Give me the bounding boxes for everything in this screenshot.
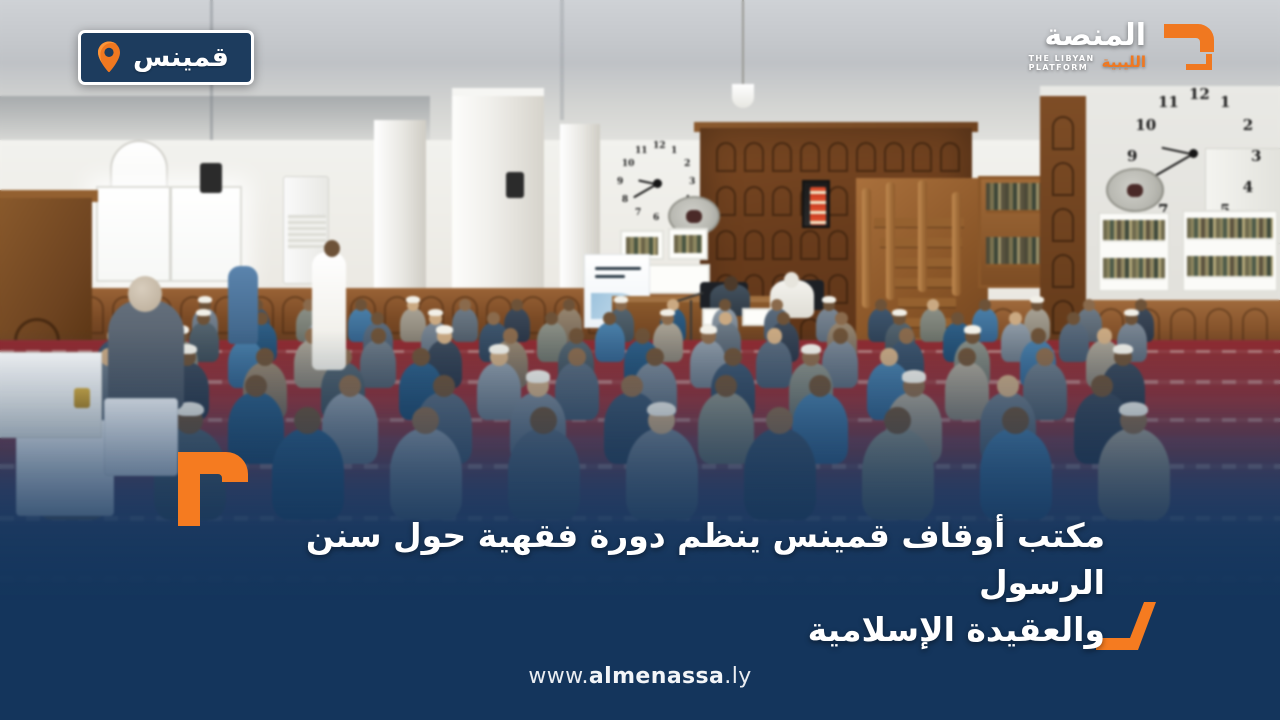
clock-number: 4 (1243, 178, 1253, 196)
arch-motif (744, 186, 764, 216)
clock-minute-hand (1153, 153, 1194, 178)
prayer-cap (198, 296, 212, 303)
brand-en-line2: PLATFORM (1029, 63, 1089, 72)
headline: مكتب أوقاف قمينس ينظم دورة فقهية حول سنن… (275, 512, 1105, 653)
head (128, 276, 162, 312)
url-tld: .ly (724, 664, 751, 689)
prayer-cap (1030, 296, 1044, 303)
head (355, 299, 367, 311)
clock-number: 10 (1135, 116, 1156, 134)
arch-motif (772, 186, 792, 216)
prayer-cap (822, 296, 836, 303)
website-url[interactable]: www.almenassa.ly (0, 664, 1280, 689)
head (784, 272, 799, 288)
clock-number: 9 (617, 177, 623, 187)
head (724, 276, 738, 291)
clock-number: 7 (635, 208, 641, 218)
brand-logo[interactable]: المنصة THE LIBYAN PLATFORM الليبية (1029, 16, 1222, 82)
arch-motif (800, 142, 820, 172)
headline-line-1: مكتب أوقاف قمينس ينظم دورة فقهية حول سنن… (275, 512, 1105, 606)
arch-motif (1052, 162, 1074, 196)
arch-motif (912, 142, 932, 172)
arch-motif (1052, 254, 1074, 288)
head (927, 299, 939, 311)
pendant-lamp (732, 84, 754, 108)
arch-motif (1052, 208, 1074, 242)
clock-number: 9 (1127, 147, 1137, 165)
arch-motif (716, 142, 736, 172)
url-prefix: www. (528, 664, 589, 689)
brand-name-english: THE LIBYAN PLATFORM (1029, 54, 1095, 72)
arch-motif (744, 142, 764, 172)
clock-number: 11 (635, 146, 648, 156)
clock-number: 12 (1189, 85, 1210, 103)
clock-number: 10 (622, 159, 635, 169)
prayer-cap (196, 309, 211, 316)
arch-motif (884, 142, 904, 172)
head (459, 299, 471, 311)
ceiling-seam-secondary (560, 0, 564, 120)
prayer-cap (1124, 309, 1139, 316)
clock-number: 11 (1158, 93, 1179, 111)
minbar-post (918, 180, 927, 292)
arch-motif (856, 142, 876, 172)
arch-motif (800, 230, 820, 260)
clock-number: 3 (1251, 147, 1261, 165)
minbar-post (862, 188, 871, 308)
head (324, 240, 340, 257)
brand-name-arabic: المنصة (1044, 22, 1146, 51)
news-card: 121234567891011 121234567891011 (0, 0, 1280, 720)
arch-motif (828, 230, 848, 260)
prayer-cap (406, 296, 420, 303)
head (719, 299, 731, 311)
clock-number: 2 (684, 159, 690, 169)
speaker (200, 163, 222, 193)
head (979, 299, 991, 311)
clock-number: 6 (653, 213, 659, 223)
clock-number: 3 (689, 177, 695, 187)
pendant-cord (742, 0, 744, 86)
clock-number: 12 (653, 141, 666, 151)
brand-en-line1: THE LIBYAN (1029, 54, 1095, 63)
arch-motif (772, 142, 792, 172)
brand-name-arabic-secondary: الليبية (1102, 55, 1146, 70)
bookshelf (1182, 210, 1278, 292)
clock-minute-hand (633, 183, 657, 198)
arch-motif (1052, 116, 1074, 150)
clock-number: 1 (671, 146, 677, 156)
arch-motif (828, 142, 848, 172)
brand-subline: THE LIBYAN PLATFORM الليبية (1029, 54, 1146, 72)
clock-number: 8 (622, 195, 628, 205)
almenassa-bracket-mark-icon (1156, 16, 1222, 82)
location-label: قمينس (133, 44, 229, 71)
arch-motif (940, 142, 960, 172)
arch-motif (828, 186, 848, 216)
head (1083, 299, 1095, 311)
location-badge[interactable]: قمينس (78, 30, 254, 85)
prayer-cap (660, 309, 675, 316)
prayer-cap (892, 309, 907, 316)
clock-number: 2 (1243, 116, 1253, 134)
wall-shelf (668, 228, 708, 260)
head (1135, 299, 1147, 311)
orange-bracket-open-icon (172, 448, 252, 534)
brand-wordmark: المنصة THE LIBYAN PLATFORM الليبية (1029, 16, 1146, 72)
minbar-post (886, 182, 895, 300)
prayer-cap (428, 309, 443, 316)
clock-number: 1 (1220, 93, 1230, 111)
head (511, 299, 523, 311)
head (875, 299, 887, 311)
url-name: almenassa (589, 664, 724, 689)
wall-plaque (802, 180, 830, 228)
head (771, 299, 783, 311)
speaker (506, 172, 524, 198)
minbar-post (952, 192, 961, 296)
arch-motif (744, 230, 764, 260)
window (96, 186, 242, 282)
wall-fan (1106, 168, 1164, 212)
head (563, 299, 575, 311)
prayer-cap (614, 296, 628, 303)
arch-motif (716, 230, 736, 260)
bookshelf (1098, 212, 1170, 292)
headline-line-2: والعقيدة الإسلامية (275, 606, 1105, 653)
map-pin-icon (95, 40, 123, 74)
arch-motif (772, 230, 792, 260)
